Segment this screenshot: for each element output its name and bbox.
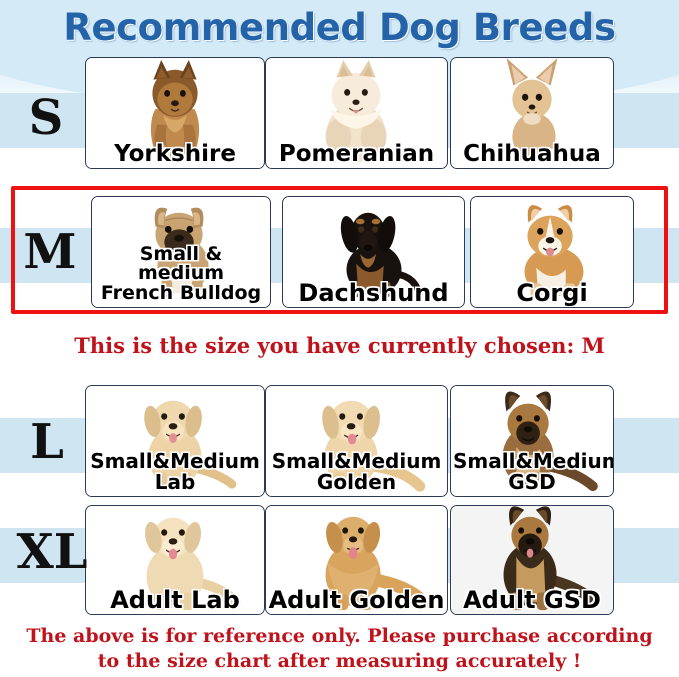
breed-card-caption: Adult Golden <box>266 588 447 612</box>
breed-card-dachshund[interactable]: Dachshund <box>282 196 465 308</box>
breed-card-caption: Pomeranian <box>266 143 447 166</box>
size-label-m: M <box>12 228 88 276</box>
breed-card-adult-gsd[interactable]: Adult GSD <box>450 505 614 615</box>
breed-card-small-medium-golden[interactable]: Small&Medium Golden <box>265 385 448 497</box>
breed-card-small-medium-lab[interactable]: Small&Medium Lab <box>85 385 265 497</box>
size-label-s: S <box>10 94 82 142</box>
breed-card-caption: Small&Medium Lab <box>86 451 264 492</box>
breed-card-small-medium-gsd[interactable]: Small&Medium GSD <box>450 385 614 497</box>
breed-card-caption: Chihuahua <box>451 143 613 166</box>
breed-card-caption: Small&Medium GSD <box>451 451 613 492</box>
breed-card-yorkshire[interactable]: Yorkshire <box>85 57 265 169</box>
breed-card-caption: Yorkshire <box>86 143 264 166</box>
footer-line-1: The above is for reference only. Please … <box>0 624 679 649</box>
breed-card-adult-golden[interactable]: Adult Golden <box>265 505 448 615</box>
breed-card-caption: Small&Medium Golden <box>266 451 447 492</box>
size-label-xl: XL <box>4 528 100 576</box>
breed-card-adult-lab[interactable]: Adult Lab <box>85 505 265 615</box>
footer-line-2: to the size chart after measuring accura… <box>0 649 679 674</box>
breed-card-caption: Adult GSD <box>451 588 613 612</box>
chosen-size-note: This is the size you have currently chos… <box>0 333 679 358</box>
breed-card-pomeranian[interactable]: Pomeranian <box>265 57 448 169</box>
breed-card-caption: Corgi <box>471 281 633 305</box>
footer-disclaimer: The above is for reference only. Please … <box>0 624 679 674</box>
breed-card-caption: Dachshund <box>283 281 464 305</box>
breed-card-chihuahua[interactable]: Chihuahua <box>450 57 614 169</box>
breed-card-french-bulldog[interactable]: Small & medium French Bulldog <box>91 196 271 308</box>
breed-card-caption: Small & medium French Bulldog <box>92 245 270 303</box>
page-title: Recommended Dog Breeds <box>0 6 679 49</box>
size-label-l: L <box>10 418 84 466</box>
recommended-dog-breeds-poster: Recommended Dog Breeds S <box>0 0 679 677</box>
breed-card-caption: Adult Lab <box>86 588 264 612</box>
breed-card-corgi[interactable]: Corgi <box>470 196 634 308</box>
